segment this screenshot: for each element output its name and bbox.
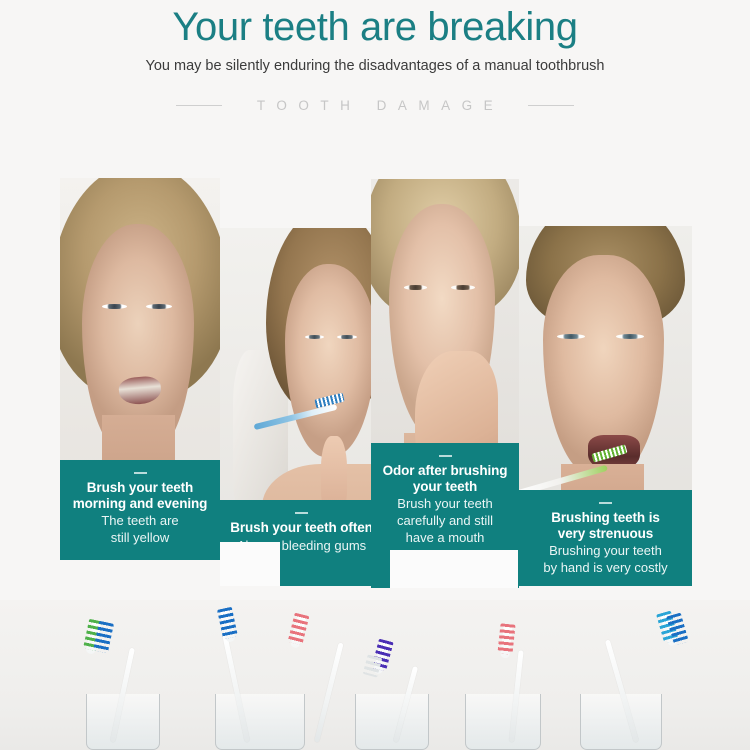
panel-2-heading-line1: Brush your teeth often [226, 520, 377, 536]
toothbrush-handle [314, 642, 344, 742]
panel-4-caption: Brushing teeth is very strenuous Brushin… [519, 490, 692, 586]
toothbrush-bristles-blue [217, 607, 238, 639]
eyebrow-rule-right [528, 105, 574, 106]
eye-right [616, 334, 644, 339]
panel-4-sub-line1: Brushing your teeth [525, 543, 686, 558]
toothbrush-bristles-white [363, 654, 383, 677]
eye-left [557, 334, 585, 339]
panel-3-heading-line1: Odor after brushing [377, 463, 513, 479]
toothbrush-bristles-red [288, 613, 310, 646]
brush-unit-5 [465, 600, 565, 750]
glass-cup [355, 694, 429, 750]
panel-3-sub-line3: have a mouth [377, 530, 513, 545]
eyebrow-label: TOOTH DAMAGE [246, 98, 504, 113]
page-subtitle: You may be silently enduring the disadva… [0, 56, 750, 76]
panel-1-sub-line1: The teeth are [66, 513, 214, 528]
panel-3-heading-line2: your teeth [377, 479, 513, 495]
caption-dash-icon [439, 455, 452, 457]
brush-unit-4 [355, 600, 455, 750]
caption-dash-icon [599, 502, 612, 504]
panel-1-sub-line2: still yellow [66, 530, 214, 545]
collage-notch-center [390, 550, 518, 588]
glass-cup [465, 694, 541, 750]
panel-4-sub-line2: by hand is very costly [525, 560, 686, 575]
panel-1-heading-line2: morning and evening [66, 496, 214, 512]
panel-1-heading-line1: Brush your teeth [66, 480, 214, 496]
caption-dash-icon [295, 512, 308, 514]
glass-cup [580, 694, 662, 750]
photo-collage: Brush your teeth morning and evening The… [0, 160, 750, 600]
eyebrow-rule-left [176, 105, 222, 106]
caption-dash-icon [134, 472, 147, 474]
panel-4-heading-line2: very strenuous [525, 526, 686, 542]
collage-panel-3[interactable]: Odor after brushing your teeth Brush you… [371, 179, 519, 588]
collage-panel-1[interactable]: Brush your teeth morning and evening The… [60, 178, 220, 560]
section-eyebrow: TOOTH DAMAGE [0, 98, 750, 113]
brush-unit-6 [580, 600, 700, 750]
manual-toothbrushes-in-glasses-photo [0, 600, 750, 750]
page-title: Your teeth are breaking [0, 2, 750, 52]
collage-notch-left [220, 542, 280, 586]
page-header: Your teeth are breaking You may be silen… [0, 0, 750, 113]
collage-panel-2[interactable]: Brush your teeth often Always bleeding g… [220, 228, 383, 586]
panel-3-sub-line2: carefully and still [377, 513, 513, 528]
toothbrush-bristles-red [497, 623, 515, 654]
panel-3-sub-line1: Brush your teeth [377, 496, 513, 511]
collage-panel-4[interactable]: Brushing teeth is very strenuous Brushin… [519, 226, 692, 586]
panel-1-caption: Brush your teeth morning and evening The… [60, 460, 220, 560]
brush-unit-1 [80, 600, 170, 750]
panel-4-heading-line1: Brushing teeth is [525, 510, 686, 526]
